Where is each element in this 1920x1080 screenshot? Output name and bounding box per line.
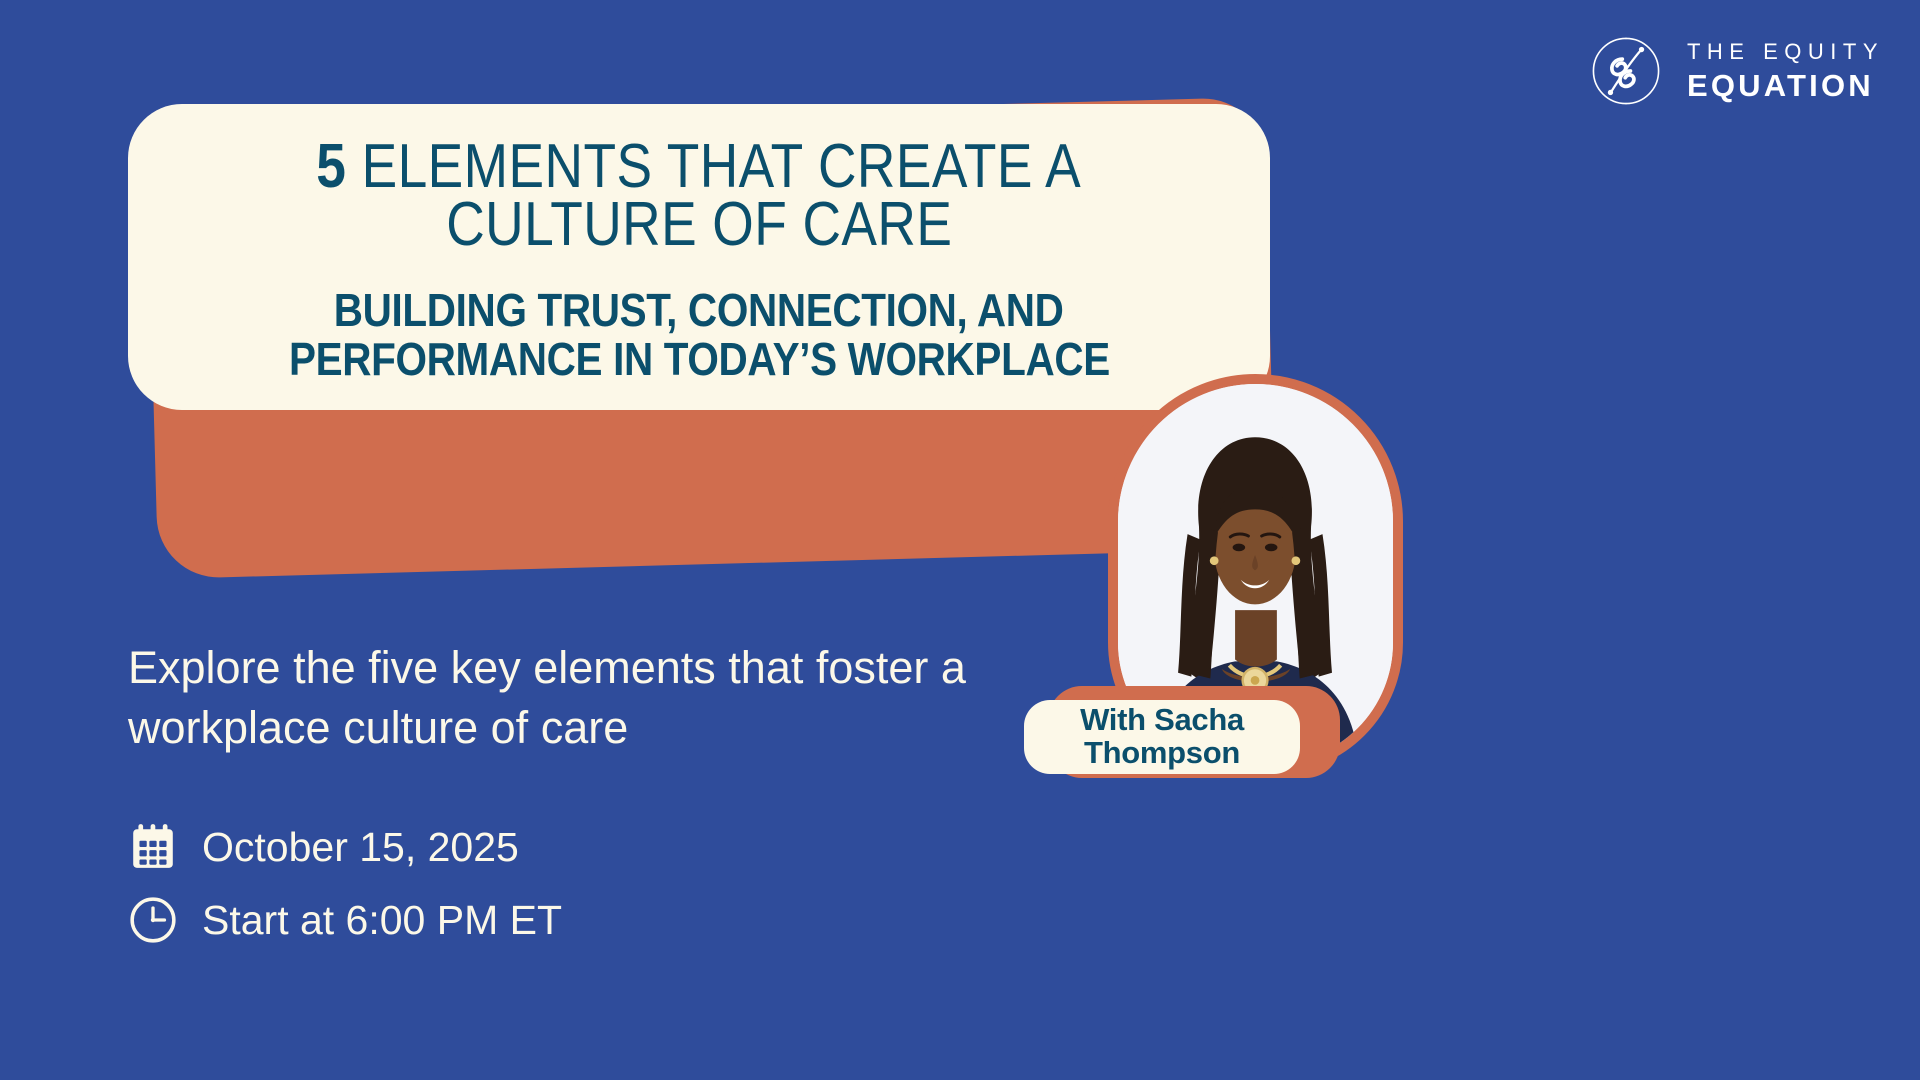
clock-icon xyxy=(128,895,178,945)
subhead-line-1: BUILDING TRUST, CONNECTION, AND xyxy=(334,287,1064,334)
webinar-promo-graphic: THE EQUITY EQUATION 5 ELEMENTS THAT CREA… xyxy=(0,0,1920,1080)
speaker-badge-line-1: With Sacha xyxy=(1080,702,1244,737)
description-text: Explore the five key elements that foste… xyxy=(128,638,1008,758)
event-time-text: Start at 6:00 PM ET xyxy=(202,897,562,944)
event-date-row: October 15, 2025 xyxy=(128,822,519,872)
headline-line-2: CULTURE OF CARE xyxy=(446,196,952,254)
event-date-text: October 15, 2025 xyxy=(202,824,519,871)
event-time-row: Start at 6:00 PM ET xyxy=(128,895,562,945)
brand-line-2: EQUATION xyxy=(1687,70,1874,101)
speaker-badge-text: With Sacha Thompson xyxy=(1080,704,1244,770)
subhead-line-2: PERFORMANCE IN TODAY’S WORKPLACE xyxy=(289,336,1110,383)
speaker-badge-line-2: Thompson xyxy=(1084,735,1240,770)
calendar-icon xyxy=(128,822,178,872)
headline-line-1: 5 ELEMENTS THAT CREATE A xyxy=(317,138,1082,196)
ee-monogram-icon xyxy=(1589,34,1663,108)
headline-number: 5 xyxy=(317,132,347,201)
speaker-badge: With Sacha Thompson xyxy=(1024,700,1300,774)
brand-logo: THE EQUITY EQUATION xyxy=(1589,34,1884,108)
title-card: 5 ELEMENTS THAT CREATE A CULTURE OF CARE… xyxy=(128,104,1270,410)
brand-wordmark: THE EQUITY EQUATION xyxy=(1687,41,1884,101)
brand-line-1: THE EQUITY xyxy=(1687,41,1884,63)
